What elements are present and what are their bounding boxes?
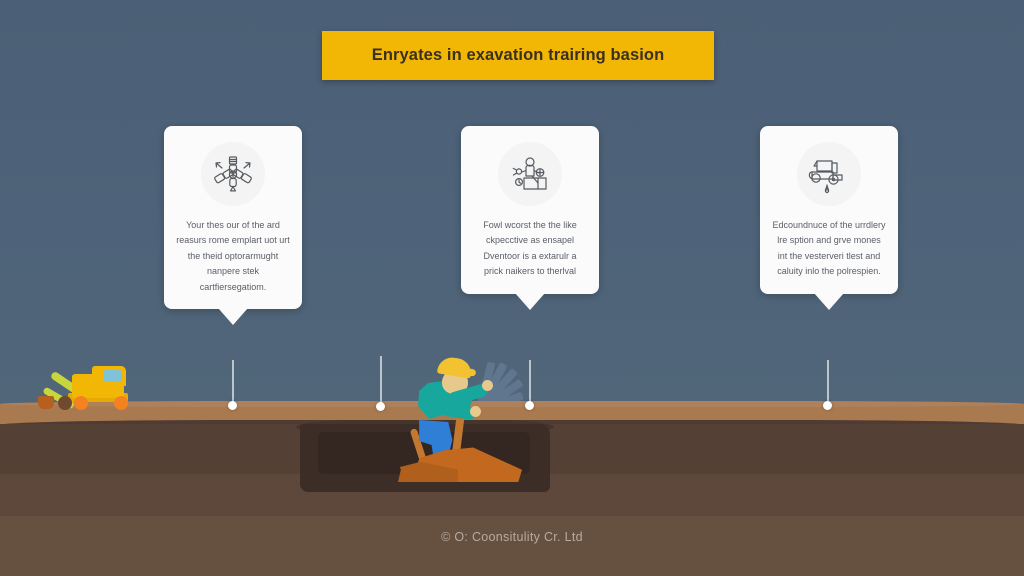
excavator-track	[58, 396, 72, 410]
excavator-vehicle	[34, 360, 142, 412]
page-title: Enryates in exavation trairing basion	[372, 46, 665, 65]
excavator-wheel-front	[74, 396, 88, 410]
leader-line-2	[380, 356, 382, 404]
converging-arrows-icon	[201, 142, 265, 206]
title-banner: Enryates in exavation trairing basion	[322, 31, 714, 80]
footer-copyright: © O: Coonsitulity Cr. Ltd	[0, 530, 1024, 544]
marker-dot-2	[376, 402, 385, 411]
worker-at-desk-icon	[498, 142, 562, 206]
marker-dot-3	[525, 401, 534, 410]
info-card-3-tail	[814, 293, 844, 310]
excavator-wheel-rear	[114, 396, 128, 410]
worker-hand-lower	[470, 406, 481, 417]
soil-layer-3	[0, 516, 1024, 576]
marker-dot-4	[823, 401, 832, 410]
leader-line-3	[529, 360, 531, 404]
marker-dot-1	[228, 401, 237, 410]
excavator-window	[104, 370, 122, 381]
info-card-1-tail	[218, 308, 248, 325]
leader-line-4	[827, 360, 829, 404]
info-card-3[interactable]: Edcoundnuce of the urrdlery lre sption a…	[760, 126, 898, 294]
leader-line-1	[232, 360, 234, 404]
info-card-2-tail	[515, 293, 545, 310]
info-card-2-text: Fowl wcorst the the like ckpecctive as e…	[473, 218, 587, 280]
excavator-bucket	[38, 396, 54, 409]
worker-hand-upper	[482, 380, 493, 391]
info-card-1-text: Your thes our of the ard reasurs rome em…	[176, 218, 290, 295]
dump-truck-icon	[797, 142, 861, 206]
infographic-canvas: Enryates in exavation trairing basion Yo…	[0, 0, 1024, 576]
info-card-2[interactable]: Fowl wcorst the the like ckpecctive as e…	[461, 126, 599, 294]
info-card-3-text: Edcoundnuce of the urrdlery lre sption a…	[772, 218, 886, 280]
info-card-1[interactable]: Your thes our of the ard reasurs rome em…	[164, 126, 302, 309]
